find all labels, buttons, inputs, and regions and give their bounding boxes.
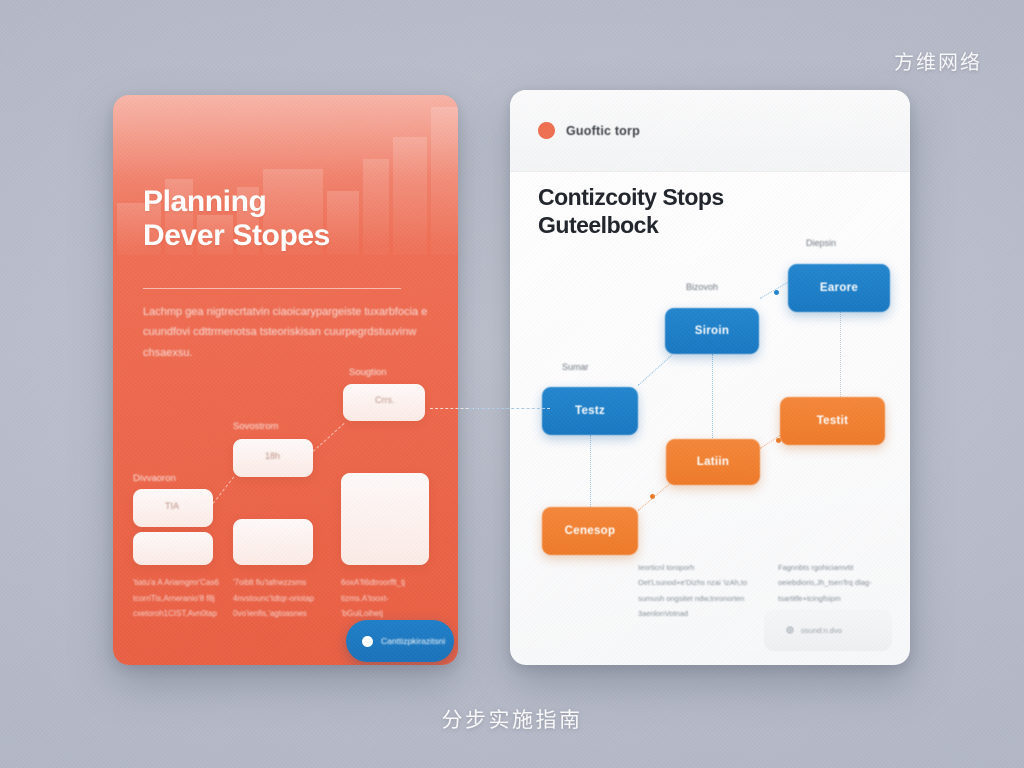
title-divider (143, 288, 401, 289)
step-3-body: 6oxA'fi6dtroorfft_tj tizms.A'tooxt-'bGui… (341, 575, 427, 622)
flowchart-title-line2: Guteelbock (538, 212, 658, 238)
page-caption: 分步实施指南 (0, 704, 1024, 734)
card-header: Guoftic torp (510, 90, 910, 172)
watermark: 方维网络 (894, 46, 982, 75)
flow-node-testit[interactable]: Testit (780, 397, 885, 445)
step-1-body: 'tiatu'a A Ariamgmr'Cas6 tcorriTis,Arner… (133, 575, 219, 622)
step-1-label: Divvaoron (133, 473, 176, 484)
node-caption-siroin: Bizovoh (686, 282, 718, 292)
flow-node-cenesop[interactable]: Cenesop (542, 507, 638, 555)
page-title-line1: Planning (143, 185, 266, 218)
cross-card-connector-right (470, 408, 545, 409)
step-1-block-bottom (133, 532, 213, 565)
dot-icon (786, 626, 794, 634)
step-3-label: Sougtion (349, 367, 387, 378)
edge-siroin-down (712, 354, 713, 438)
edge-testz-siroin (638, 354, 673, 386)
planning-card: Planning Dever Stopes Lachmp gea nigtrec… (113, 95, 458, 665)
node-caption-earore: Diepsin (806, 238, 836, 248)
brand-dot-icon (538, 122, 555, 139)
page-title: Planning Dever Stopes (143, 185, 430, 253)
flow-node-testz[interactable]: Testz (542, 387, 638, 435)
step-1-value: TIA (165, 501, 179, 511)
flowchart-title: Contizcoity Stops Guteelbock (538, 184, 882, 239)
edge-node-dot-orange-2 (650, 494, 655, 499)
flowchart-title-line1: Contizcoity Stops (538, 184, 724, 210)
brand-name: Guoftic torp (566, 124, 640, 138)
page-title-line2: Dever Stopes (143, 219, 330, 252)
step-3-block-bottom (341, 473, 429, 565)
edge-node-dot-blue (774, 290, 779, 295)
footer-column-1: Ieorticnl toroporh Oet'Lsunod+e'Dizhs nz… (638, 560, 756, 622)
lead-paragraph: Lachmp gea nigtrecrtatvin ciaoicaryparge… (143, 302, 428, 363)
edge-earore-down (840, 312, 841, 397)
node-caption-testz: Sumar (562, 362, 589, 372)
dot-icon (362, 636, 373, 647)
status-badge[interactable]: osund:n.dvo (764, 609, 892, 651)
step-3-value: Crrs. (375, 395, 395, 405)
edge-testz-down (590, 435, 591, 507)
step-2-block-bottom (233, 519, 313, 565)
primary-cta-button[interactable]: Canttizpkirazitsni (346, 620, 454, 662)
flowchart-card: Guoftic torp Contizcoity Stops Guteelboc… (510, 90, 910, 665)
step-connector-2-3 (313, 423, 345, 452)
flow-node-earore[interactable]: Earore (788, 264, 890, 312)
step-2-body: '7oiblt fiu'tafnezzsms 4nvstounc'tdtqr-o… (233, 575, 319, 622)
step-2-value: 18h (265, 451, 280, 461)
step-connector-1-2 (213, 476, 235, 503)
primary-cta-label: Canttizpkirazitsni (381, 636, 445, 646)
step-2-label: Sovostrom (233, 421, 278, 432)
flow-node-latiin[interactable]: Latiin (666, 439, 760, 485)
status-badge-label: osund:n.dvo (801, 626, 842, 635)
flow-node-siroin[interactable]: Siroin (665, 308, 759, 354)
